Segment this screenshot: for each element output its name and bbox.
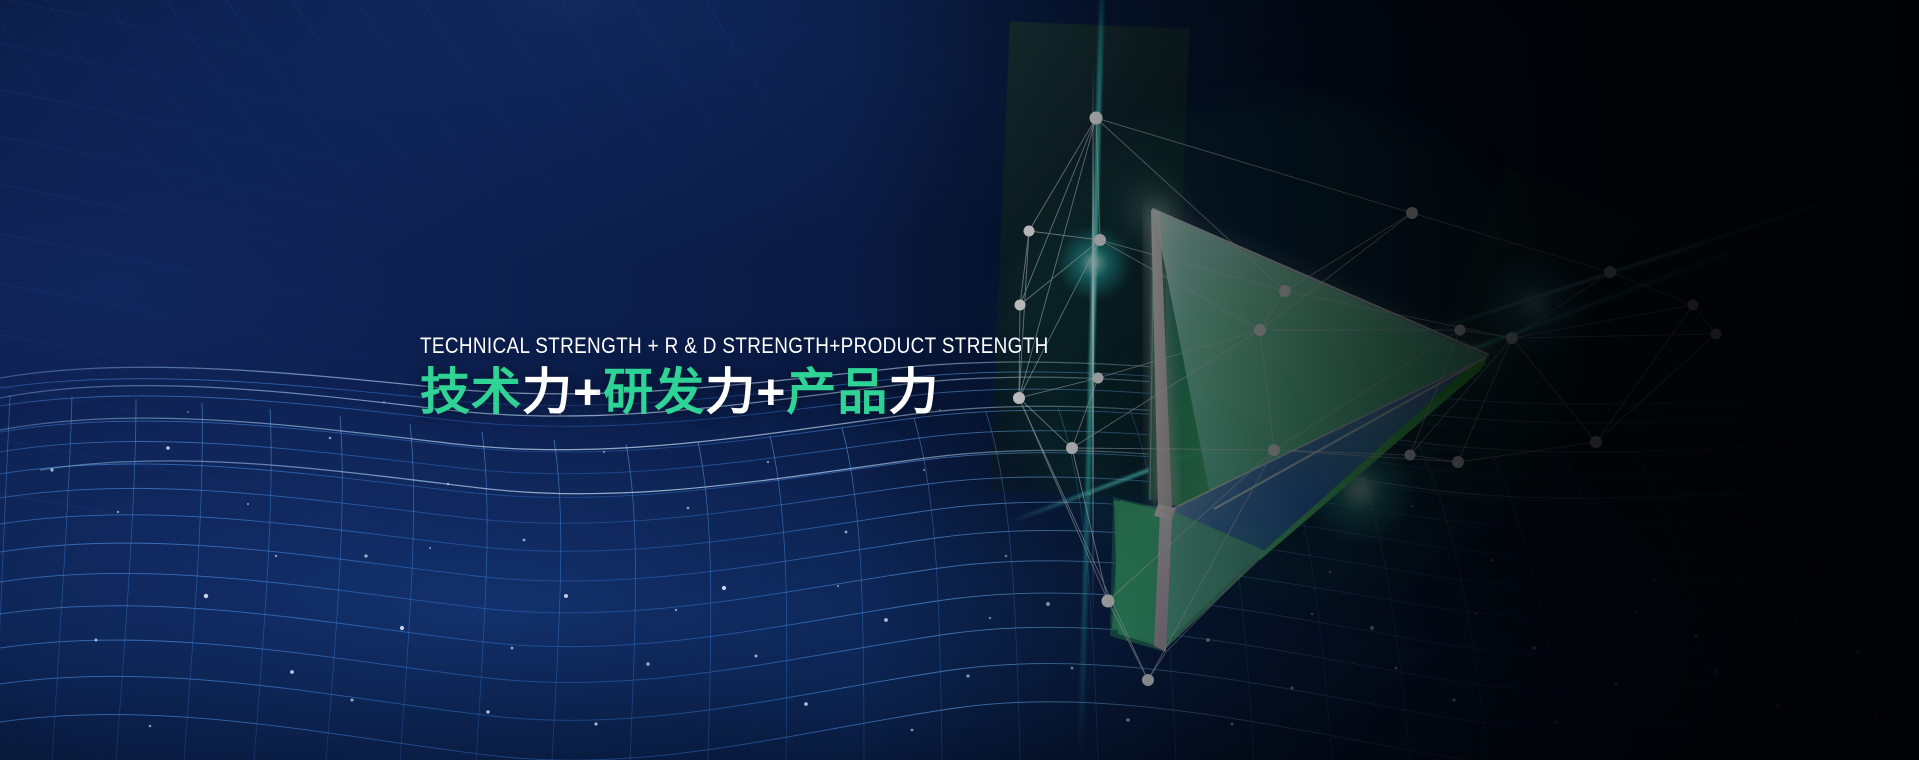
eyebrow-text: TECHNICAL STRENGTH + R & D STRENGTH+PROD… — [420, 333, 1049, 359]
hero-banner: TECHNICAL STRENGTH + R & D STRENGTH+PROD… — [0, 0, 1919, 760]
headline-block: TECHNICAL STRENGTH + R & D STRENGTH+PROD… — [420, 333, 1151, 419]
page-title: 技术力+研发力+产品力 — [420, 366, 1151, 419]
headline-segment-5: 产品 — [786, 363, 888, 421]
headline-segment-1: 技术 — [420, 363, 522, 421]
headline-separator-1: + — [573, 364, 603, 420]
headline-separator-2: + — [756, 364, 786, 420]
headline-segment-6: 力 — [888, 363, 939, 421]
headline-segment-2: 力 — [522, 363, 573, 421]
headline-segment-3: 研发 — [603, 363, 705, 421]
headline-segment-4: 力 — [705, 363, 756, 421]
